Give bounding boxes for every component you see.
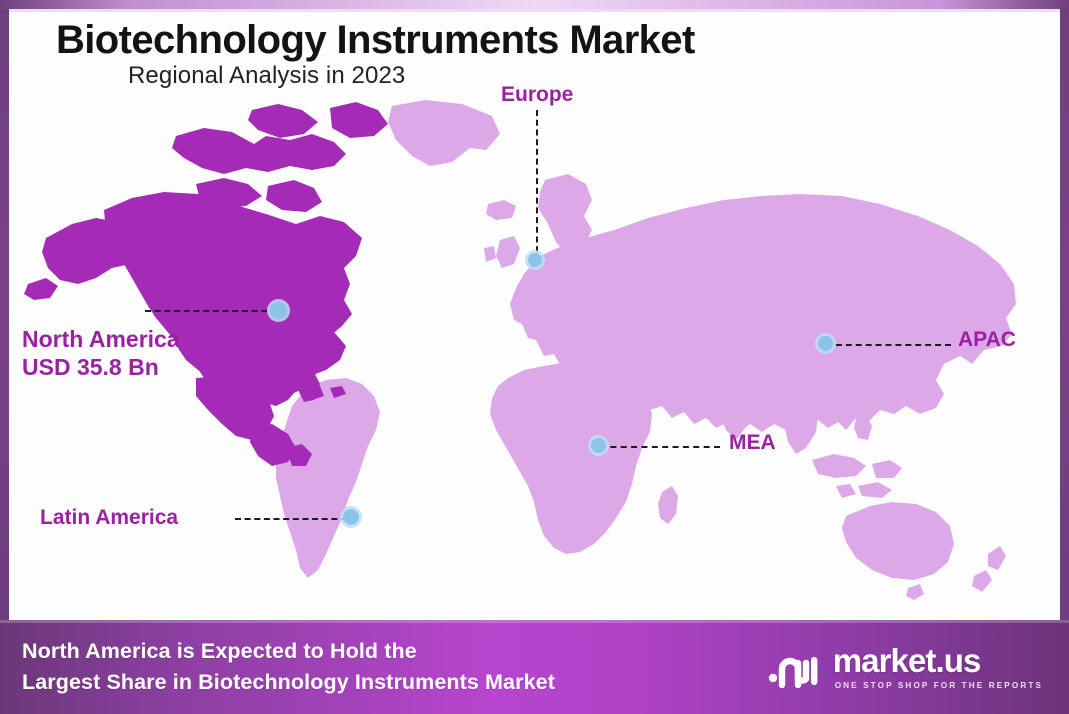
region-label-apac: APAC — [958, 327, 1016, 353]
region-label-north-america: North America USD 35.8 Bn — [22, 325, 180, 381]
frame-top-inner-line — [9, 9, 1060, 12]
banner-line-1: North America is Expected to Hold the — [22, 636, 555, 667]
page-title: Biotechnology Instruments Market — [56, 18, 695, 63]
frame-top-stripe — [0, 0, 1069, 9]
bottom-banner: North America is Expected to Hold the La… — [0, 620, 1069, 714]
region-label-latin-america: Latin America — [40, 505, 178, 531]
page-subtitle: Regional Analysis in 2023 — [128, 62, 405, 90]
map-marker-europe[interactable] — [528, 253, 542, 267]
leader-line-apac — [826, 344, 951, 346]
leader-line-mea — [600, 446, 720, 448]
region-label-mea: MEA — [729, 430, 776, 456]
frame-right-stripe — [1060, 0, 1069, 714]
region-label-europe: Europe — [501, 82, 573, 108]
map-marker-latin-america[interactable] — [343, 509, 359, 525]
banner-top-highlight — [0, 620, 1069, 623]
leader-line-europe — [536, 110, 538, 262]
leader-line-north-america — [145, 310, 277, 312]
market-us-logo-icon — [766, 645, 822, 689]
logo-tagline: ONE STOP SHOP FOR THE REPORTS — [835, 681, 1043, 690]
logo-wordmark: market.us — [833, 644, 1043, 677]
frame-left-stripe — [0, 0, 9, 714]
region-name-north-america: North America — [22, 325, 180, 353]
map-marker-mea[interactable] — [591, 438, 606, 453]
banner-line-2: Largest Share in Biotechnology Instrumen… — [22, 667, 555, 698]
infographic-canvas: Biotechnology Instruments Market Regiona… — [0, 0, 1069, 714]
leader-line-latin-america — [235, 518, 347, 520]
brand-logo[interactable]: market.us ONE STOP SHOP FOR THE REPORTS — [766, 644, 1043, 690]
banner-statement: North America is Expected to Hold the La… — [22, 636, 555, 697]
map-marker-north-america[interactable] — [270, 302, 287, 319]
region-value-north-america: USD 35.8 Bn — [22, 353, 180, 381]
map-marker-apac[interactable] — [818, 336, 833, 351]
